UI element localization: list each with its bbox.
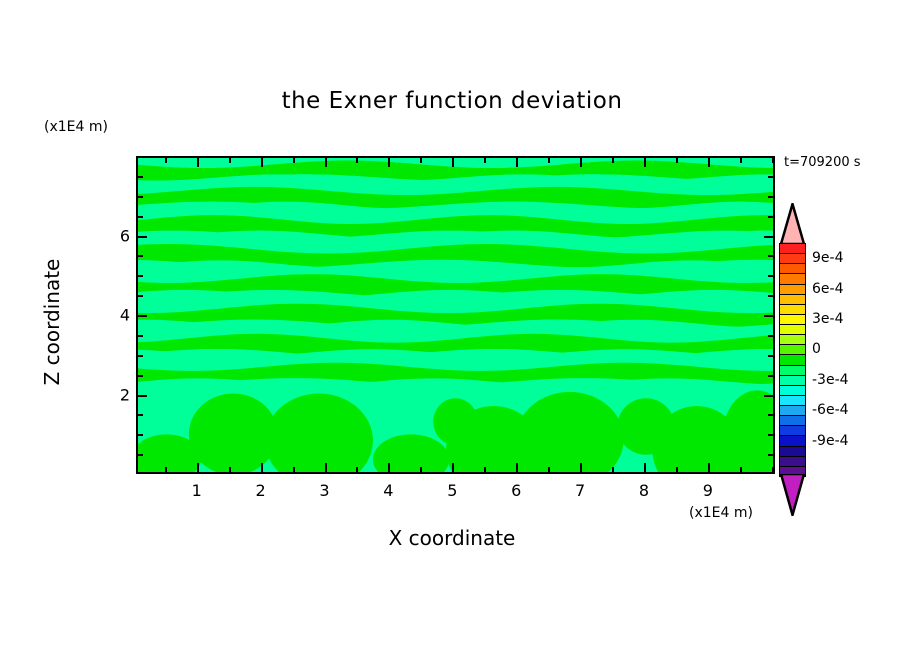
tick-mark: [708, 463, 710, 472]
tick-mark: [138, 275, 143, 277]
tick-mark: [138, 355, 143, 357]
colorbar: [779, 243, 806, 476]
contour-blob: [373, 434, 449, 472]
tick-mark: [612, 158, 614, 163]
tick-mark: [138, 236, 147, 238]
contour-band: [138, 260, 773, 281]
tick-mark: [740, 467, 742, 472]
z-axis-title: Z coordinate: [40, 237, 64, 407]
tick-mark: [138, 454, 143, 456]
x-axis-unit-label: (x1E4 m): [689, 505, 753, 521]
colorbar-tick-label: 9e-4: [812, 250, 843, 266]
contour-band: [138, 378, 773, 394]
tick-mark: [580, 463, 582, 472]
tick-mark: [229, 467, 231, 472]
tick-mark: [772, 158, 774, 163]
tick-mark: [420, 467, 422, 472]
tick-mark: [138, 335, 143, 337]
x-tick-label: 8: [639, 481, 649, 500]
tick-mark: [356, 467, 358, 472]
tick-mark: [768, 434, 773, 436]
time-annotation: t=709200 s: [784, 155, 861, 170]
tick-mark: [516, 158, 518, 167]
tick-mark: [768, 196, 773, 198]
colorbar-over-arrow: [779, 203, 806, 244]
tick-mark: [676, 158, 678, 163]
x-tick-label: 2: [256, 481, 266, 500]
x-tick-label: 4: [383, 481, 393, 500]
tick-mark: [612, 467, 614, 472]
x-tick-label: 5: [447, 481, 457, 500]
tick-mark: [388, 463, 390, 472]
tick-mark: [768, 335, 773, 337]
tick-mark: [325, 158, 327, 167]
tick-mark: [165, 467, 167, 472]
tick-mark: [138, 295, 143, 297]
tick-mark: [325, 463, 327, 472]
tick-mark: [772, 467, 774, 472]
tick-mark: [293, 467, 295, 472]
tick-mark: [452, 463, 454, 472]
x-tick-label: 7: [575, 481, 585, 500]
contour-blob: [265, 394, 373, 473]
contour-field: [138, 158, 773, 472]
colorbar-under-arrow: [779, 474, 806, 516]
tick-mark: [138, 255, 143, 257]
colorbar-tick-label: 6e-4: [812, 281, 843, 297]
tick-mark: [548, 467, 550, 472]
tick-mark: [580, 158, 582, 167]
tick-mark: [768, 255, 773, 257]
tick-mark: [644, 158, 646, 167]
x-tick-label: 9: [703, 481, 713, 500]
tick-mark: [768, 375, 773, 377]
tick-mark: [764, 315, 773, 317]
tick-mark: [165, 158, 167, 163]
colorbar-tick-label: -6e-4: [812, 402, 849, 418]
tick-mark: [484, 467, 486, 472]
tick-mark: [644, 463, 646, 472]
x-tick-label: 6: [511, 481, 521, 500]
tick-mark: [452, 158, 454, 167]
tick-mark: [516, 463, 518, 472]
x-tick-label: 3: [319, 481, 329, 500]
tick-mark: [768, 454, 773, 456]
tick-mark: [261, 158, 263, 167]
z-tick-label: 6: [112, 226, 130, 245]
contour-blob: [516, 392, 624, 472]
tick-mark: [768, 216, 773, 218]
tick-mark: [764, 236, 773, 238]
tick-mark: [768, 295, 773, 297]
tick-mark: [138, 375, 143, 377]
z-axis-unit-label: (x1E4 m): [44, 119, 108, 135]
contour-blob: [189, 394, 278, 473]
tick-mark: [261, 463, 263, 472]
tick-mark: [197, 463, 199, 472]
tick-mark: [484, 158, 486, 163]
tick-mark: [768, 414, 773, 416]
contour-blob: [722, 390, 773, 472]
tick-mark: [293, 158, 295, 163]
tick-mark: [768, 275, 773, 277]
tick-mark: [197, 158, 199, 167]
contour-plot-area: [136, 156, 775, 474]
colorbar-tick-label: -3e-4: [812, 372, 849, 388]
tick-mark: [548, 158, 550, 163]
tick-mark: [676, 467, 678, 472]
colorbar-tick-label: -9e-4: [812, 433, 849, 449]
chart-title: the Exner function deviation: [0, 88, 904, 114]
tick-mark: [768, 355, 773, 357]
tick-mark: [138, 414, 143, 416]
tick-mark: [138, 176, 143, 178]
z-tick-label: 4: [112, 306, 130, 325]
tick-mark: [388, 158, 390, 167]
colorbar-tick-label: 0: [812, 341, 821, 357]
tick-mark: [138, 434, 143, 436]
tick-mark: [138, 216, 143, 218]
tick-mark: [138, 315, 147, 317]
tick-mark: [138, 395, 147, 397]
tick-mark: [740, 158, 742, 163]
x-tick-label: 1: [192, 481, 202, 500]
tick-mark: [708, 158, 710, 167]
x-axis-title: X coordinate: [0, 526, 904, 550]
tick-mark: [356, 158, 358, 163]
tick-mark: [420, 158, 422, 163]
tick-mark: [768, 176, 773, 178]
colorbar-tick-label: 3e-4: [812, 311, 843, 327]
tick-mark: [229, 158, 231, 163]
z-tick-label: 2: [112, 385, 130, 404]
tick-mark: [764, 395, 773, 397]
tick-mark: [138, 196, 143, 198]
